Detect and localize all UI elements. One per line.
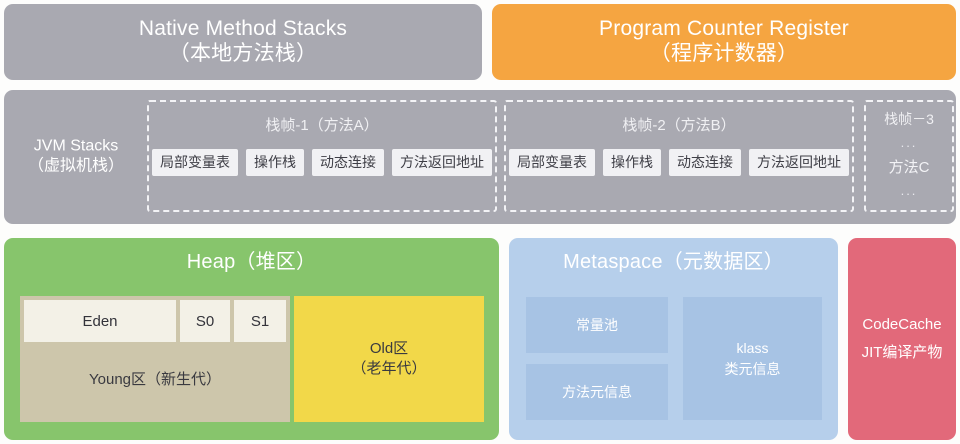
native-method-stacks-title-en: Native Method Stacks xyxy=(139,17,347,40)
native-method-stacks-panel: Native Method Stacks （本地方法栈） xyxy=(4,4,482,80)
old-generation-label-en: Old区 xyxy=(370,340,408,357)
code-cache-panel: CodeCache JIT编译产物 xyxy=(848,238,956,440)
young-generation-cells: Eden S0 S1 xyxy=(20,296,290,342)
survivor-0-cell: S0 xyxy=(180,300,230,342)
stack-frame-2-slot-local-variable-table: 局部变量表 xyxy=(509,149,595,176)
stack-frame-3-title: 栈帧－3 xyxy=(884,109,934,129)
heap-title-en: Heap xyxy=(187,251,236,273)
young-generation-box: Eden S0 S1 Young区（新生代） xyxy=(20,296,290,422)
heap-panel: Heap（堆区） Eden S0 S1 Young区（新生代） Old区 （老年… xyxy=(4,238,499,440)
stack-frame-3-ellipsis-top: ... xyxy=(901,136,918,149)
stack-frame-3-subtitle: 方法C xyxy=(889,156,930,177)
stack-frame-3: 栈帧－3 ... 方法C ... xyxy=(864,100,954,212)
code-cache-label-cn: JIT编译产物 xyxy=(862,344,943,361)
program-counter-register-title-cn: （程序计数器） xyxy=(650,42,798,65)
klass-metadata-box: klass 类元信息 xyxy=(683,297,822,420)
jvm-stacks-panel: JVM Stacks （虚拟机栈） 栈帧-1（方法A） 局部变量表 操作栈 动态… xyxy=(4,90,956,224)
old-generation-label-cn: （老年代） xyxy=(351,360,426,377)
eden-space-cell: Eden xyxy=(24,300,176,342)
program-counter-register-title: Program Counter Register （程序计数器） xyxy=(599,17,849,67)
young-generation-label: Young区（新生代） xyxy=(20,368,290,389)
jvm-stacks-label-en: JVM Stacks xyxy=(34,138,118,155)
stack-frame-2-slot-dynamic-linking: 动态连接 xyxy=(669,149,741,176)
klass-label-cn: 类元信息 xyxy=(725,361,781,377)
code-cache-label: CodeCache JIT编译产物 xyxy=(862,311,943,368)
program-counter-register-title-en: Program Counter Register xyxy=(599,17,849,40)
jvm-stacks-label-cn: （虚拟机栈） xyxy=(28,158,124,175)
stack-frame-2-slot-return-address: 方法返回地址 xyxy=(749,149,849,176)
klass-metadata-labels: klass 类元信息 xyxy=(725,338,781,380)
heap-title-cn: （堆区） xyxy=(235,251,316,273)
stack-frame-1-slots: 局部变量表 操作栈 动态连接 方法返回地址 xyxy=(152,149,492,176)
klass-label-en: klass xyxy=(737,340,769,356)
jvm-memory-diagram: Native Method Stacks （本地方法栈） Program Cou… xyxy=(0,0,960,444)
metaspace-title: Metaspace（元数据区） xyxy=(509,238,838,275)
method-metadata-box: 方法元信息 xyxy=(526,364,668,420)
program-counter-register-panel: Program Counter Register （程序计数器） xyxy=(492,4,956,80)
stack-frame-2-title: 栈帧-2（方法B） xyxy=(622,114,735,135)
old-generation-label: Old区 （老年代） xyxy=(351,339,426,380)
native-method-stacks-title: Native Method Stacks （本地方法栈） xyxy=(139,17,347,67)
stack-frame-1: 栈帧-1（方法A） 局部变量表 操作栈 动态连接 方法返回地址 xyxy=(147,100,497,212)
stack-frame-2: 栈帧-2（方法B） 局部变量表 操作栈 动态连接 方法返回地址 xyxy=(504,100,854,212)
metaspace-title-en: Metaspace xyxy=(563,251,663,273)
stack-frame-2-slots: 局部变量表 操作栈 动态连接 方法返回地址 xyxy=(509,149,849,176)
metaspace-panel: Metaspace（元数据区） 常量池 方法元信息 klass 类元信息 xyxy=(509,238,838,440)
stack-frame-1-slot-dynamic-linking: 动态连接 xyxy=(312,149,384,176)
stack-frame-1-title: 栈帧-1（方法A） xyxy=(265,114,378,135)
code-cache-label-en: CodeCache xyxy=(862,316,941,333)
stack-frame-1-slot-local-variable-table: 局部变量表 xyxy=(152,149,238,176)
heap-title: Heap（堆区） xyxy=(4,238,499,275)
survivor-1-cell: S1 xyxy=(234,300,286,342)
jvm-stacks-label: JVM Stacks （虚拟机栈） xyxy=(8,137,144,178)
constant-pool-box: 常量池 xyxy=(526,297,668,353)
stack-frame-3-ellipsis-bottom: ... xyxy=(901,184,918,197)
stack-frame-1-slot-operand-stack: 操作栈 xyxy=(246,149,304,176)
stack-frame-1-slot-return-address: 方法返回地址 xyxy=(392,149,492,176)
old-generation-box: Old区 （老年代） xyxy=(294,296,484,422)
native-method-stacks-title-cn: （本地方法栈） xyxy=(169,42,317,65)
metaspace-title-cn: （元数据区） xyxy=(663,251,784,273)
stack-frame-2-slot-operand-stack: 操作栈 xyxy=(603,149,661,176)
